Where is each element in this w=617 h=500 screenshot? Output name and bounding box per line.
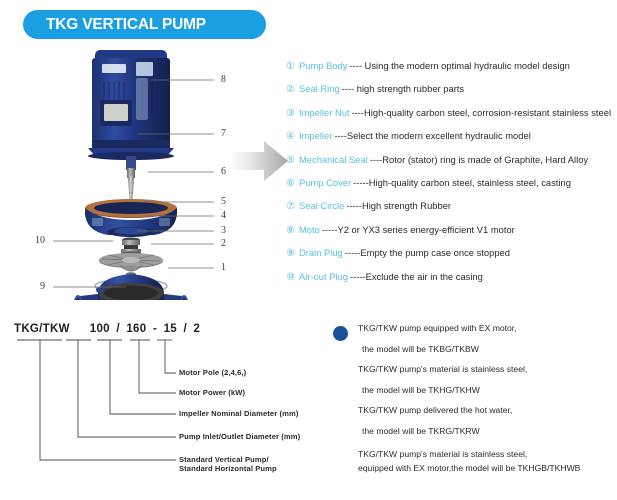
breakdown-label-impeller-diam: Impeller Nominal Diameter (mm) [179,409,298,418]
feature-name: Impeller Nut [299,107,350,118]
feature-number-icon: ⑧ [286,226,299,236]
feature-number-icon: ⑥ [286,179,299,189]
feature-list: ① Pump Body ---- Using the modern optima… [286,60,617,294]
feature-name: Air-out Plug [299,271,348,282]
variant-line-1: TKG/TKW pump equipped with EX motor, [358,318,617,339]
feature-number-icon: ④ [286,132,299,142]
feature-description: -----Y2 or YX3 series energy-efficient V… [322,224,515,235]
feature-name: Impeller [299,130,332,141]
feature-description: -----Exclude the air in the casing [350,271,483,282]
feature-description: ----Rotor (stator) ring is made of Graph… [370,154,588,165]
feature-number-icon: ① [286,62,299,72]
feature-item-2: ② Seal Ring ---- high strength rubber pa… [286,83,617,106]
callout-number-4: 4 [221,210,226,221]
feature-number-icon: ⑩ [286,273,299,283]
right-arrow-icon [228,138,290,184]
variant-line-5: TKG/TKW pump delivered the hot water, [358,400,617,421]
variant-line-2: the model will be TKBG/TKBW [358,339,617,360]
feature-item-7: ⑦ Seal Circle -----High strength Rubber [286,200,617,223]
variant-line-7: TKG/TKW pump's material is stainless ste… [358,441,617,461]
callout-number-7: 7 [221,128,226,139]
callout-number-1: 1 [221,262,226,273]
feature-name: Pump Cover [299,177,351,188]
variant-lines-group: TKG/TKW pump equipped with EX motor, the… [358,318,617,475]
breakdown-label-motor-power: Motor Power (kW) [179,388,245,397]
page-title: TKG VERTICAL PUMP [23,16,206,34]
feature-description: ---- high strength rubber parts [342,83,464,94]
breakdown-label-pump-standard: Standard Vertical Pump/ Standard Horizon… [179,455,277,473]
feature-item-3: ③ Impeller Nut ----High-quality carbon s… [286,107,617,130]
feature-description: -----High-quality carbon steel, stainles… [353,177,571,188]
model-code-breakdown: TKG/TKW 100 / 160 - 15 / 2 Mo [0,310,330,500]
feature-number-icon: ③ [286,109,299,119]
feature-name: Drain Plug [299,247,343,258]
feature-number-icon: ② [286,85,299,95]
feature-item-1: ① Pump Body ---- Using the modern optima… [286,60,617,83]
feature-item-8: ⑧ Moto -----Y2 or YX3 series energy-effi… [286,224,617,247]
page-header-banner: TKG VERTICAL PUMP [23,10,266,39]
variant-line-8: equipped with EX motor,the model will be… [358,461,617,475]
feature-number-icon: ⑨ [286,249,299,259]
callout-number-6: 6 [221,166,226,177]
variant-line-3: TKG/TKW pump's material is stainless ste… [358,359,617,380]
feature-description: -----High strength Rubber [346,200,451,211]
callout-number-2: 2 [221,238,226,249]
callout-number-9: 9 [40,281,45,292]
callout-number-8: 8 [221,74,226,85]
callout-number-3: 3 [221,225,226,236]
bullet-dot-icon [333,326,348,341]
callout-number-5: 5 [221,196,226,207]
breakdown-label-pump-standard-line2: Standard Horizontal Pump [179,464,277,473]
feature-name: Moto [299,224,320,235]
feature-description: -----Empty the pump case once stopped [345,247,510,258]
variant-line-4: the model will be TKHG/TKHW [358,380,617,401]
feature-description: ----Select the modern excellent hydrauli… [334,130,530,141]
breakdown-label-inlet-diam: Pump Inlet/Outlet Diameter (mm) [179,432,300,441]
variant-line-6: the model will be TKRG/TKRW [358,421,617,442]
feature-description: ----High-quality carbon steel, corrosion… [352,107,611,118]
feature-name: Seal Circle [299,200,344,211]
feature-name: Pump Body [299,60,347,71]
feature-item-5: ⑤ Mechanical Seal ----Rotor (stator) rin… [286,154,617,177]
feature-item-10: ⑩ Air-out Plug -----Exclude the air in t… [286,271,617,294]
feature-name: Mechanical Seal [299,154,368,165]
feature-item-6: ⑥ Pump Cover -----High-quality carbon st… [286,177,617,200]
feature-name: Seal Ring [299,83,340,94]
callout-number-10: 10 [35,235,45,246]
breakdown-label-motor-pole: Motor Pole (2,4,6,) [179,368,246,377]
feature-item-4: ④ Impeller ----Select the modern excelle… [286,130,617,153]
feature-number-icon: ⑦ [286,202,299,212]
breakdown-leader-lines [0,310,330,500]
feature-description: ---- Using the modern optimal hydraulic … [349,60,569,71]
breakdown-label-pump-standard-line1: Standard Vertical Pump/ [179,455,269,464]
feature-item-9: ⑨ Drain Plug -----Empty the pump case on… [286,247,617,270]
feature-number-icon: ⑤ [286,156,299,166]
